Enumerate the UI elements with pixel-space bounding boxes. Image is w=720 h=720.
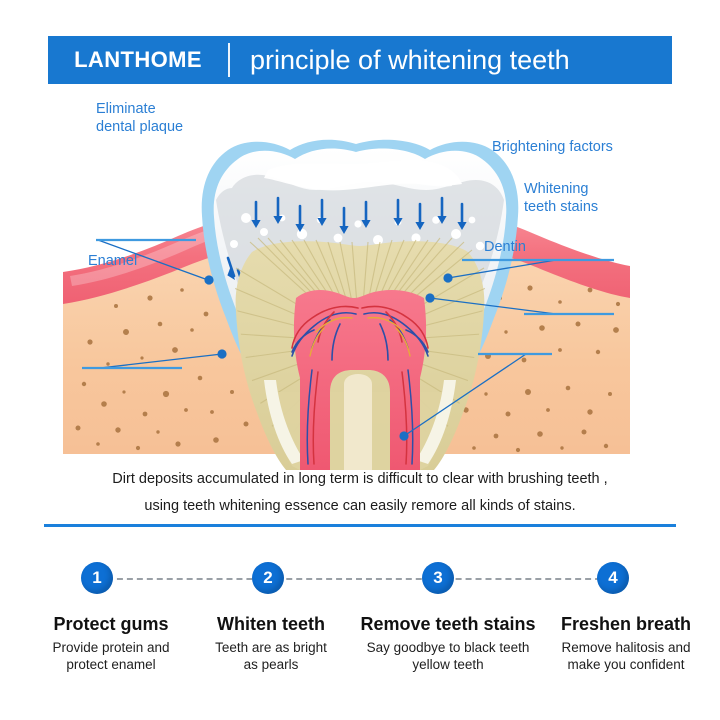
benefit-sub-line2: protect enamel xyxy=(66,657,155,672)
benefit-cards: Protect gums Provide protein and protect… xyxy=(0,612,720,682)
step-marker-3: 3 xyxy=(422,562,454,594)
label-dentin: Dentin xyxy=(484,238,526,256)
step-connector-line xyxy=(97,578,621,580)
benefit-card-remove-teeth-stains: Remove teeth stains Say goodbye to black… xyxy=(348,612,548,673)
description-paragraph: Dirt deposits accumulated in long term i… xyxy=(60,466,660,520)
benefit-title: Freshen breath xyxy=(538,612,714,636)
page-title: principle of whitening teeth xyxy=(230,36,672,84)
label-eliminate-dental-plaque: Eliminate dental plaque xyxy=(96,100,183,136)
benefit-sub-line1: Teeth are as bright xyxy=(215,640,327,655)
tooth-anatomy-diagram: Eliminate dental plaque Brightening fact… xyxy=(0,92,720,470)
endpoint-dentin xyxy=(399,431,408,440)
benefit-subtitle: Teeth are as bright as pearls xyxy=(183,639,359,673)
step-marker-row: 1 2 3 4 xyxy=(0,562,720,602)
paragraph-line-2: using teeth whitening essence can easily… xyxy=(60,493,660,520)
benefit-sub-line1: Say goodbye to black teeth xyxy=(367,640,530,655)
label-brightening-factors: Brightening factors xyxy=(492,138,613,156)
header-divider xyxy=(228,43,230,77)
benefit-sub-line1: Remove halitosis and xyxy=(561,640,690,655)
benefit-sub-line2: yellow teeth xyxy=(412,657,483,672)
endpoint-enamel xyxy=(217,349,226,358)
benefit-subtitle: Say goodbye to black teeth yellow teeth xyxy=(348,639,548,673)
pulp-inner-canal xyxy=(344,374,372,470)
header-banner: LANTHOME principle of whitening teeth xyxy=(48,36,672,84)
benefit-title: Whiten teeth xyxy=(183,612,359,636)
paragraph-line-1: Dirt deposits accumulated in long term i… xyxy=(60,466,660,493)
label-whitening-line2: teeth stains xyxy=(524,199,598,215)
benefit-sub-line1: Provide protein and xyxy=(52,640,169,655)
label-eliminate-line1: Eliminate xyxy=(96,101,156,117)
label-whitening-line1: Whitening xyxy=(524,181,588,197)
endpoint-plaque xyxy=(204,275,213,284)
step-marker-2: 2 xyxy=(252,562,284,594)
benefit-card-freshen-breath: Freshen breath Remove halitosis and make… xyxy=(538,612,714,673)
step-marker-4: 4 xyxy=(597,562,629,594)
benefit-title: Remove teeth stains xyxy=(348,612,548,636)
benefit-subtitle: Remove halitosis and make you confident xyxy=(538,639,714,673)
endpoint-brightening xyxy=(443,273,452,282)
benefit-title: Protect gums xyxy=(16,612,206,636)
benefit-sub-line2: make you confident xyxy=(567,657,684,672)
benefit-subtitle: Provide protein and protect enamel xyxy=(16,639,206,673)
endpoint-whitening xyxy=(425,293,434,302)
step-marker-1: 1 xyxy=(81,562,113,594)
label-enamel: Enamel xyxy=(88,252,137,270)
benefit-card-protect-gums: Protect gums Provide protein and protect… xyxy=(16,612,206,673)
brand-name: LANTHOME xyxy=(48,36,228,84)
label-whitening-teeth-stains: Whitening teeth stains xyxy=(524,180,598,216)
section-divider xyxy=(44,524,676,527)
benefit-card-whiten-teeth: Whiten teeth Teeth are as bright as pear… xyxy=(183,612,359,673)
benefit-sub-line2: as pearls xyxy=(244,657,299,672)
label-eliminate-line2: dental plaque xyxy=(96,119,183,135)
infographic-page: LANTHOME principle of whitening teeth xyxy=(0,0,720,720)
